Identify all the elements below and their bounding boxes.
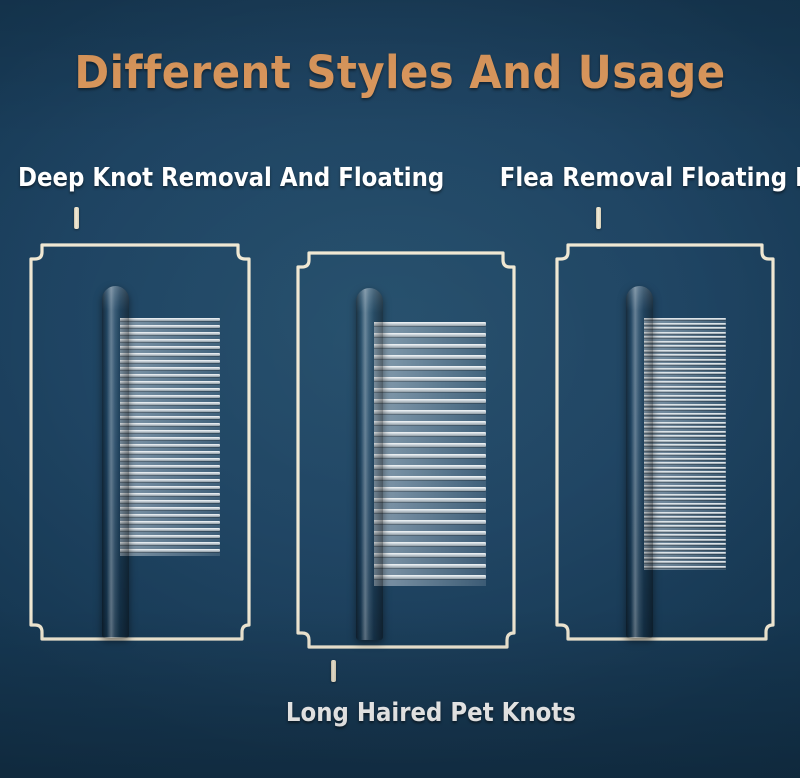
comb-pin	[374, 355, 486, 359]
comb-pin	[644, 512, 726, 514]
comb-pin	[644, 534, 726, 536]
comb-pin	[120, 332, 220, 335]
comb-pin	[644, 503, 726, 505]
comb-pin	[644, 566, 726, 568]
comb-pin	[120, 388, 220, 391]
handle-shading	[356, 288, 383, 640]
comb-pin	[644, 368, 726, 370]
comb-pin	[120, 507, 220, 510]
comb-pin	[374, 509, 486, 513]
comb-pin	[120, 318, 220, 321]
comb-pin	[644, 444, 726, 446]
callout-label-flea-removal: Flea Removal Floating Fur	[500, 163, 790, 193]
comb-pin	[644, 521, 726, 523]
tick-marker-flea-removal	[596, 207, 601, 229]
comb-pin	[374, 333, 486, 337]
comb-pin	[644, 462, 726, 464]
product-infographic: Different Styles And Usage	[0, 0, 800, 778]
comb-pin	[374, 454, 486, 458]
comb-pin	[644, 561, 726, 563]
comb-pin	[374, 377, 486, 381]
comb-pin	[644, 341, 726, 343]
comb-pin	[644, 345, 726, 347]
comb-image-long-haired	[330, 288, 490, 688]
comb-pin	[644, 404, 726, 406]
comb-pin	[644, 318, 726, 320]
comb-pin	[644, 417, 726, 419]
comb-image-flea-removal	[600, 286, 750, 686]
comb-image-deep-knot	[76, 286, 226, 686]
comb-pin	[644, 530, 726, 532]
handle-shading	[626, 286, 653, 638]
comb-pin	[374, 322, 486, 326]
comb-pin	[120, 437, 220, 440]
comb-pin	[120, 514, 220, 517]
comb-pin	[374, 564, 486, 568]
comb-pin	[120, 395, 220, 398]
comb-pin	[120, 430, 220, 433]
comb-pin	[374, 465, 486, 469]
comb-pin	[644, 332, 726, 334]
comb-pin	[374, 388, 486, 392]
comb-pins-wide	[374, 322, 486, 586]
comb-pin	[120, 325, 220, 328]
comb-pin	[374, 476, 486, 480]
comb-pin	[120, 339, 220, 342]
comb-pin	[120, 535, 220, 538]
comb-pin	[374, 487, 486, 491]
comb-pin	[120, 500, 220, 503]
comb-pin	[120, 542, 220, 545]
comb-pin	[644, 485, 726, 487]
comb-pin	[644, 372, 726, 374]
comb-pin	[644, 453, 726, 455]
comb-pin	[120, 521, 220, 524]
comb-pin	[644, 440, 726, 442]
comb-pin	[374, 432, 486, 436]
comb-pin	[644, 386, 726, 388]
comb-pin	[644, 395, 726, 397]
comb-pin	[644, 516, 726, 518]
comb-pin	[374, 410, 486, 414]
comb-pin	[120, 374, 220, 377]
callout-label-long-haired: Long Haired Pet Knots	[286, 698, 519, 728]
comb-pin	[644, 327, 726, 329]
tick-marker-long-haired	[331, 660, 336, 682]
comb-pin	[120, 486, 220, 489]
comb-pin	[120, 346, 220, 349]
comb-pin	[644, 557, 726, 559]
comb-pin	[120, 367, 220, 370]
comb-pin	[120, 465, 220, 468]
comb-pin	[644, 422, 726, 424]
comb-pin	[644, 435, 726, 437]
handle-shading	[102, 286, 129, 638]
comb-pin	[644, 354, 726, 356]
comb-pins-fine	[644, 318, 726, 570]
comb-pins-medium	[120, 318, 220, 556]
comb-pin	[644, 381, 726, 383]
tick-marker-deep-knot	[74, 207, 79, 229]
comb-pin	[644, 336, 726, 338]
comb-wooden-handle	[102, 286, 129, 638]
comb-pin	[644, 494, 726, 496]
comb-pin	[120, 402, 220, 405]
comb-pin	[644, 507, 726, 509]
comb-wooden-handle	[356, 288, 383, 640]
comb-pin	[644, 539, 726, 541]
comb-pin	[644, 413, 726, 415]
comb-wooden-handle	[626, 286, 653, 638]
callout-label-deep-knot: Deep Knot Removal And Floating	[18, 163, 370, 193]
comb-pin	[644, 467, 726, 469]
comb-pin	[644, 350, 726, 352]
comb-pin	[644, 543, 726, 545]
comb-pin	[644, 489, 726, 491]
comb-pin	[120, 416, 220, 419]
comb-pin	[120, 458, 220, 461]
comb-pin	[120, 444, 220, 447]
comb-pin	[644, 552, 726, 554]
comb-pin	[120, 409, 220, 412]
comb-pin	[644, 525, 726, 527]
comb-pin	[374, 443, 486, 447]
comb-pin	[644, 548, 726, 550]
comb-pin	[644, 426, 726, 428]
comb-pin	[374, 344, 486, 348]
comb-pin	[120, 353, 220, 356]
comb-pin	[644, 359, 726, 361]
comb-pin	[644, 363, 726, 365]
comb-pin	[644, 498, 726, 500]
comb-pin	[644, 390, 726, 392]
comb-pin	[644, 449, 726, 451]
comb-pin	[120, 479, 220, 482]
comb-pin	[374, 531, 486, 535]
comb-pin	[374, 542, 486, 546]
comb-pin	[644, 399, 726, 401]
comb-pin	[644, 471, 726, 473]
comb-pin	[120, 381, 220, 384]
comb-pin	[120, 451, 220, 454]
comb-pin	[644, 476, 726, 478]
comb-pin	[374, 399, 486, 403]
comb-pin	[120, 528, 220, 531]
comb-pin	[374, 553, 486, 557]
comb-pin	[374, 520, 486, 524]
comb-pin	[644, 408, 726, 410]
comb-pin	[120, 423, 220, 426]
comb-pin	[644, 480, 726, 482]
comb-pin	[120, 549, 220, 552]
comb-pin	[374, 575, 486, 579]
comb-pin	[120, 472, 220, 475]
comb-pin	[120, 360, 220, 363]
comb-pin	[644, 458, 726, 460]
comb-pin	[374, 421, 486, 425]
comb-pin	[644, 431, 726, 433]
page-title: Different Styles And Usage	[28, 46, 772, 99]
comb-pin	[120, 493, 220, 496]
comb-pin	[644, 323, 726, 325]
comb-pin	[644, 377, 726, 379]
comb-pin	[374, 498, 486, 502]
comb-pin	[374, 366, 486, 370]
